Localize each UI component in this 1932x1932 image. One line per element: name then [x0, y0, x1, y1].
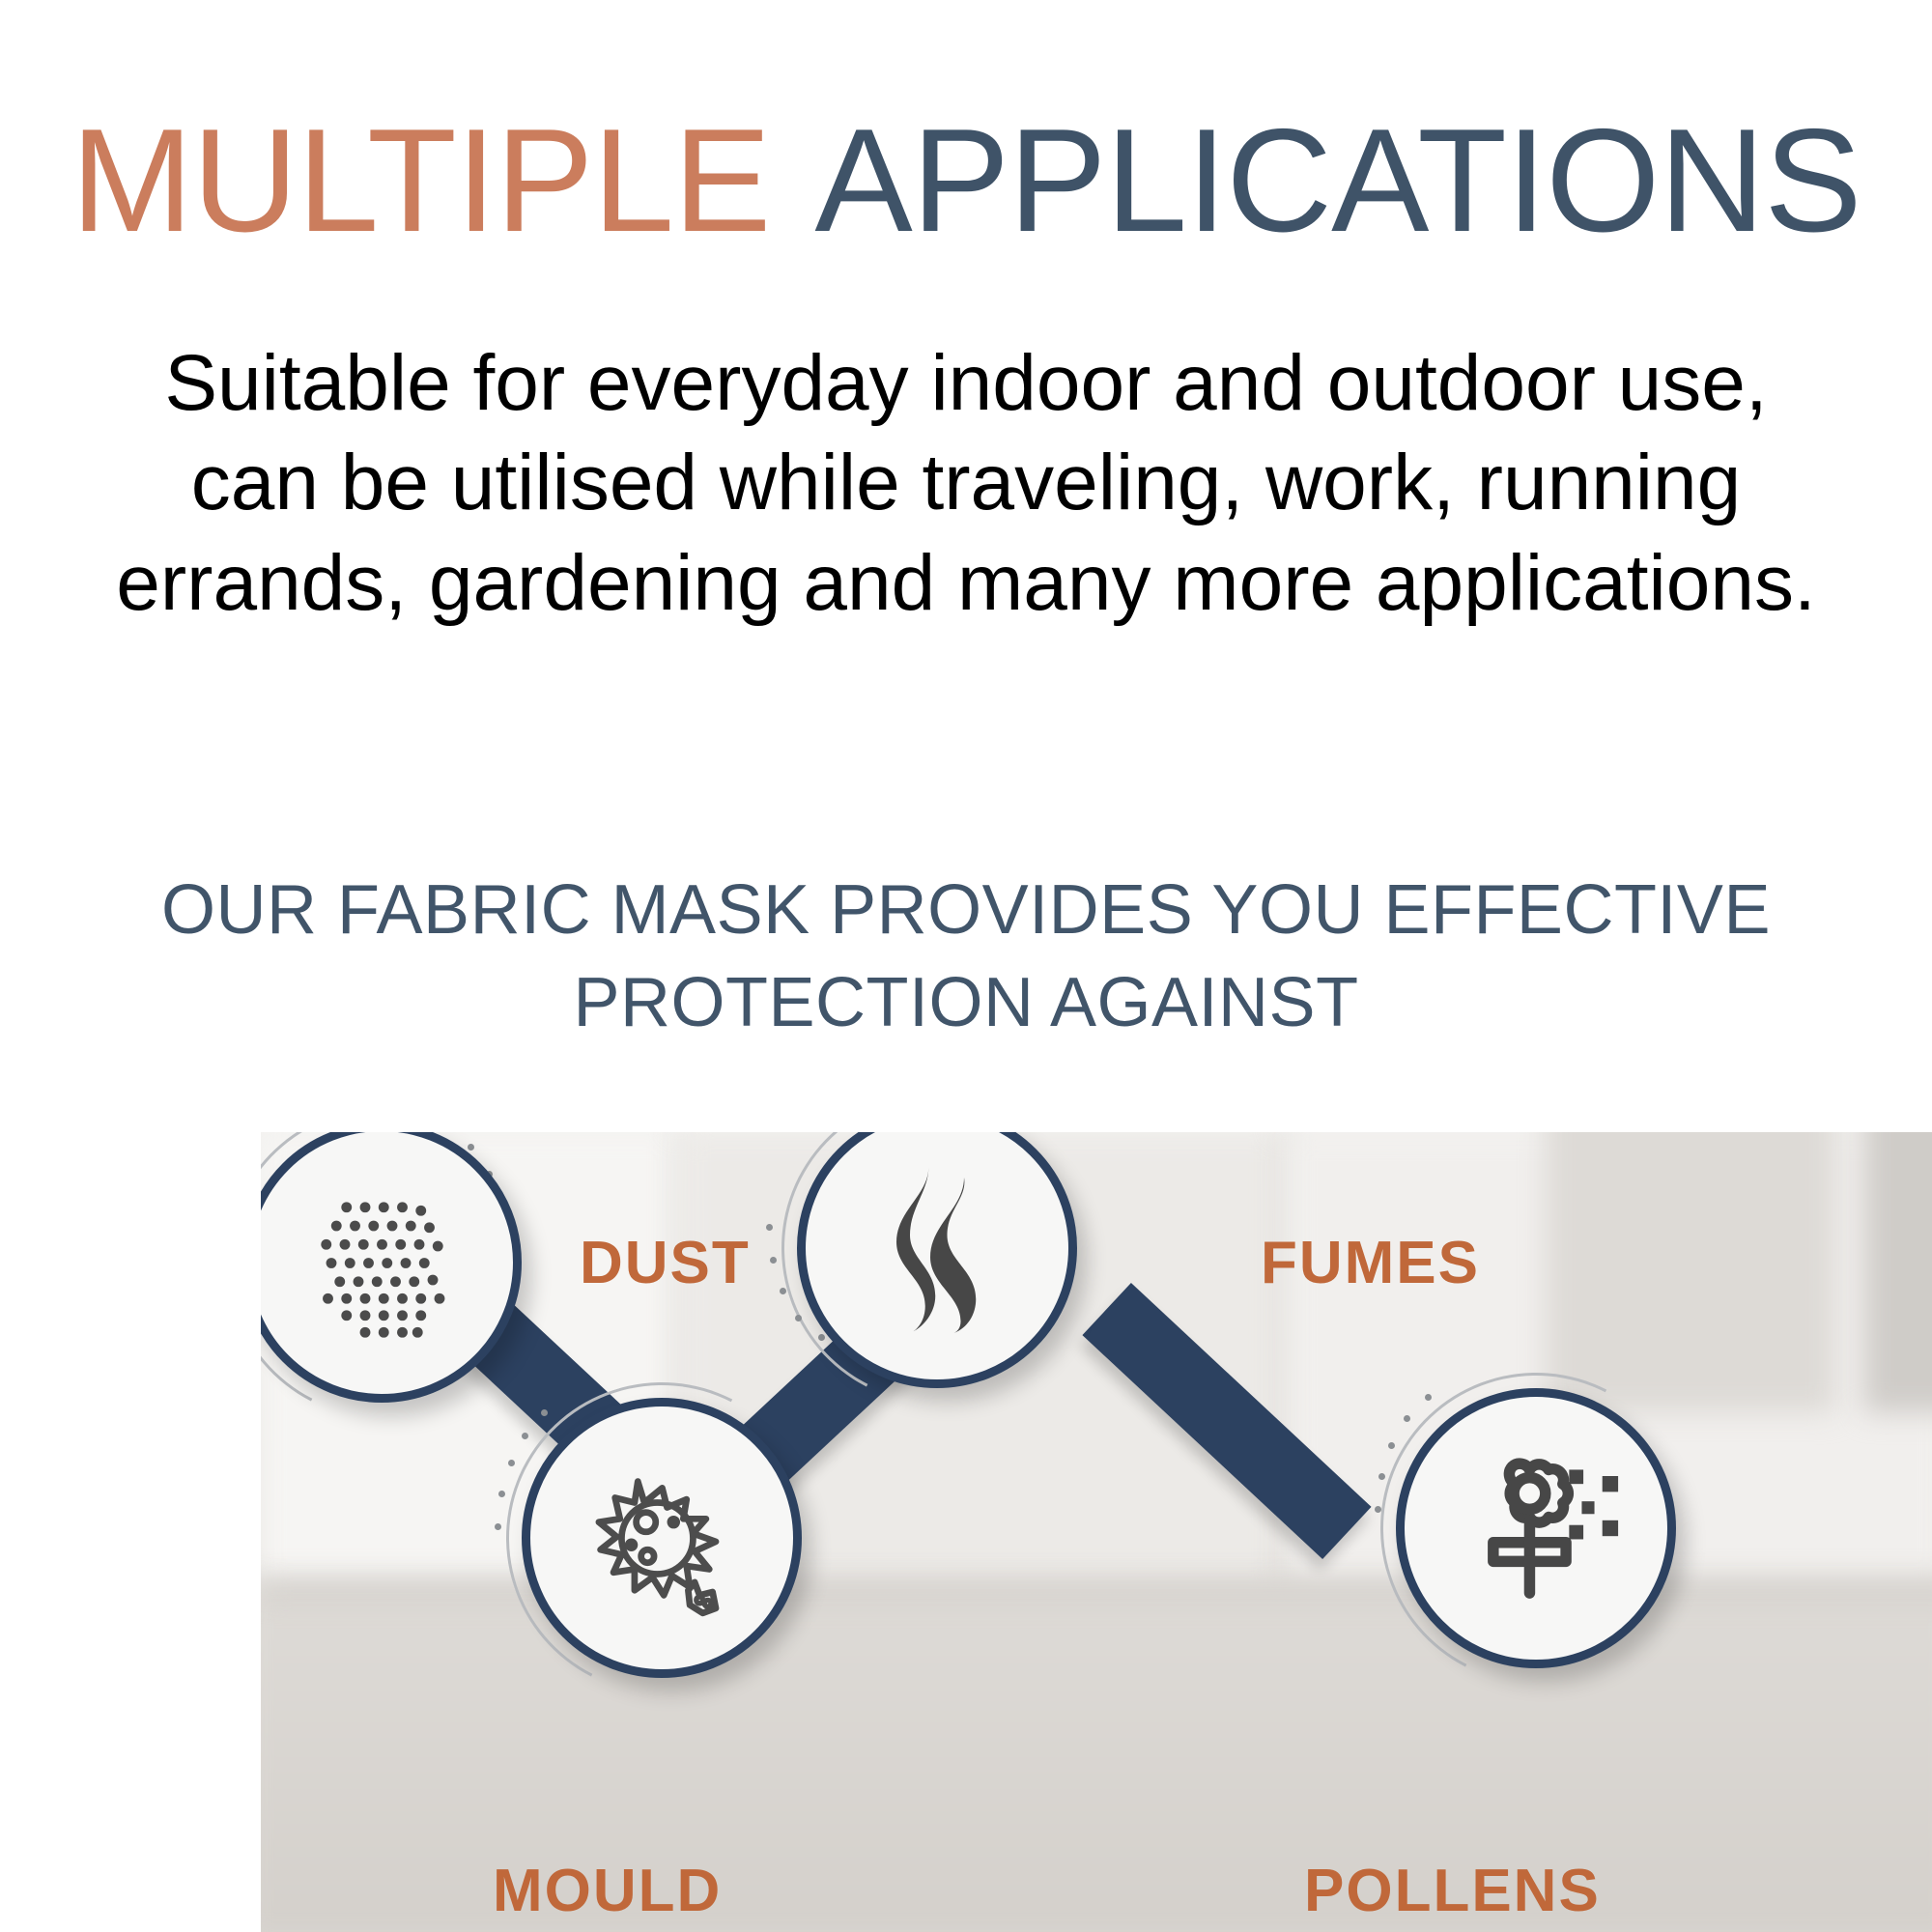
background-window: [1546, 1132, 1835, 1412]
smoke-fumes-icon: [797, 1132, 1077, 1388]
label-fumes: FUMES: [1261, 1229, 1480, 1297]
title-word-multiple: MULTIPLE: [71, 99, 770, 263]
label-pollens: POLLENS: [1304, 1857, 1601, 1925]
dust-dots-icon: [261, 1132, 522, 1403]
label-mould: MOULD: [493, 1857, 722, 1925]
microbe-germ-icon: [522, 1398, 802, 1678]
label-dust: DUST: [580, 1229, 751, 1297]
page-title: MULTIPLEAPPLICATIONS: [0, 104, 1932, 259]
node-pollens[interactable]: [1396, 1388, 1676, 1668]
background-window: [1864, 1132, 1932, 1412]
node-dust[interactable]: [261, 1132, 522, 1403]
infographic-page: MULTIPLEAPPLICATIONS Suitable for everyd…: [0, 0, 1932, 1932]
flower-pollen-icon: [1396, 1388, 1676, 1668]
title-word-applications: APPLICATIONS: [814, 99, 1861, 263]
sub-heading: OUR FABRIC MASK PROVIDES YOU EFFECTIVE P…: [77, 865, 1855, 1050]
node-fumes[interactable]: [797, 1132, 1077, 1388]
protection-diagram: DUST FUMES MOULD POLLENS: [261, 1132, 1932, 1932]
body-paragraph: Suitable for everyday indoor and outdoor…: [97, 333, 1835, 633]
node-mould[interactable]: [522, 1398, 802, 1678]
